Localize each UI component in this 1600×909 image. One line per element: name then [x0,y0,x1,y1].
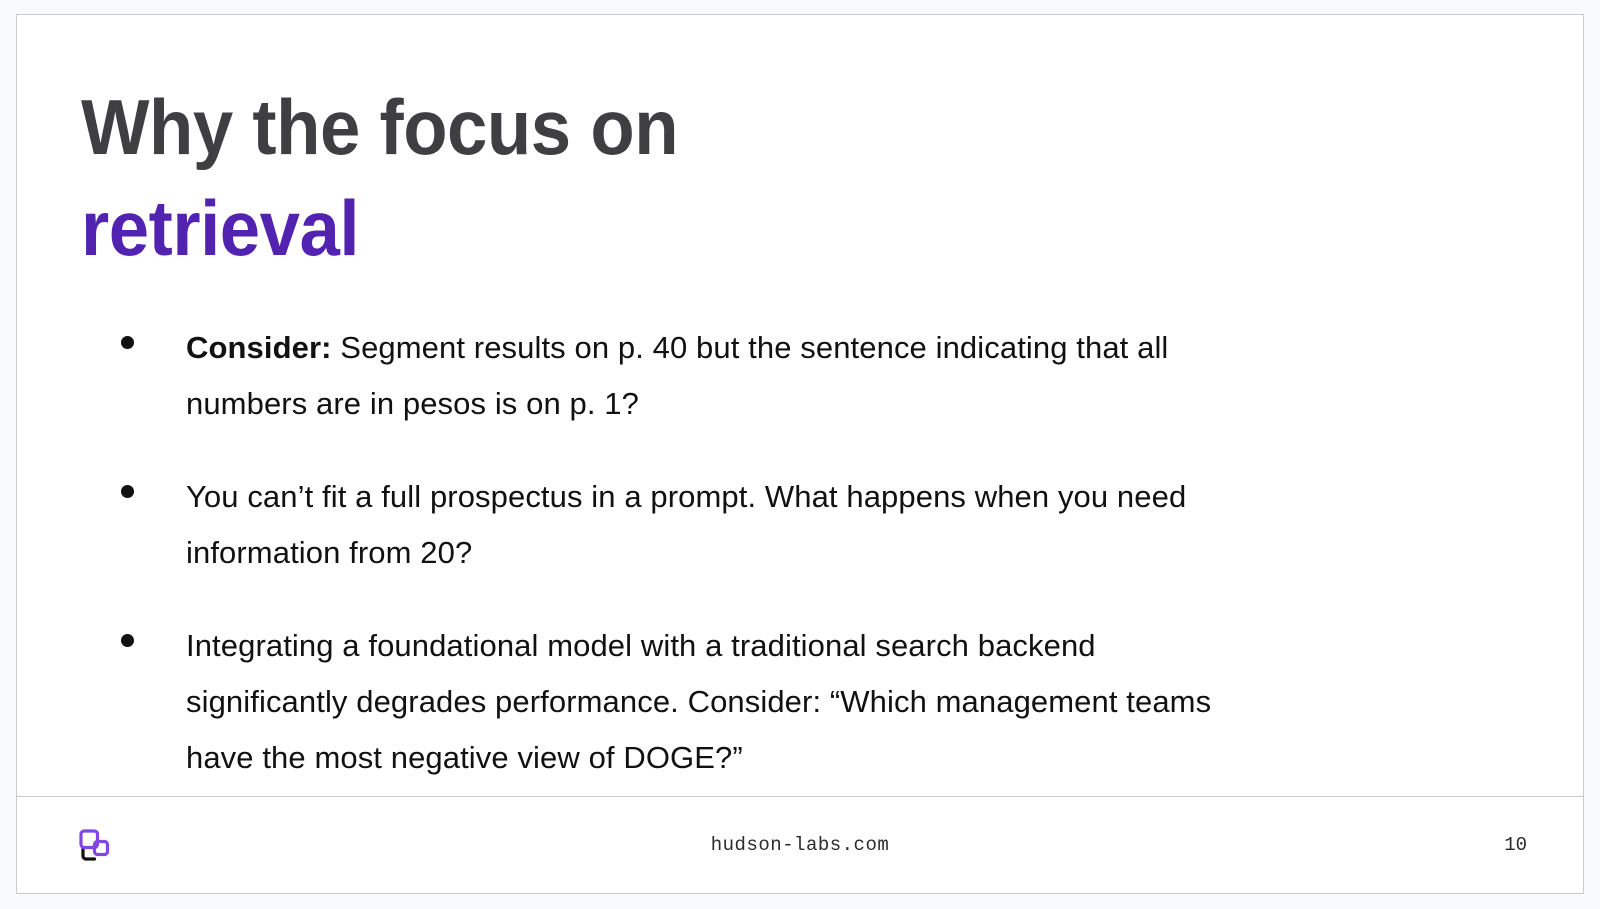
list-item: You can’t fit a full prospectus in a pro… [121,469,1241,582]
bullet-text: You can’t fit a full prospectus in a pro… [186,469,1241,582]
title-line-primary: Why the focus on [81,77,1104,178]
title-line-accent: retrieval [81,178,1104,279]
slide-footer: hudson-labs.com 10 [17,796,1583,893]
bullet-dot-icon [121,336,134,349]
bullet-body-text: Segment results on p. 40 but the sentenc… [186,330,1168,421]
page-title: Why the focus on retrieval [81,77,1181,280]
bullet-text: Consider: Segment results on p. 40 but t… [186,320,1241,433]
bullet-dot-icon [121,634,134,647]
slide-page-number: 10 [1504,834,1527,856]
bullet-lead-label: Consider: [186,330,332,365]
hudson-labs-logo-icon [73,823,117,867]
slide-content-area: Why the focus on retrieval Consider: Seg… [17,15,1583,796]
footer-website-label: hudson-labs.com [17,834,1583,856]
bullet-text: Integrating a foundational model with a … [186,618,1241,787]
slide-card: Why the focus on retrieval Consider: Seg… [16,14,1584,894]
list-item: Consider: Segment results on p. 40 but t… [121,320,1241,433]
bullet-body-text: Integrating a foundational model with a … [186,628,1211,776]
bullet-list: Consider: Segment results on p. 40 but t… [121,320,1241,787]
list-item: Integrating a foundational model with a … [121,618,1241,787]
bullet-dot-icon [121,485,134,498]
bullet-body-text: You can’t fit a full prospectus in a pro… [186,479,1186,570]
